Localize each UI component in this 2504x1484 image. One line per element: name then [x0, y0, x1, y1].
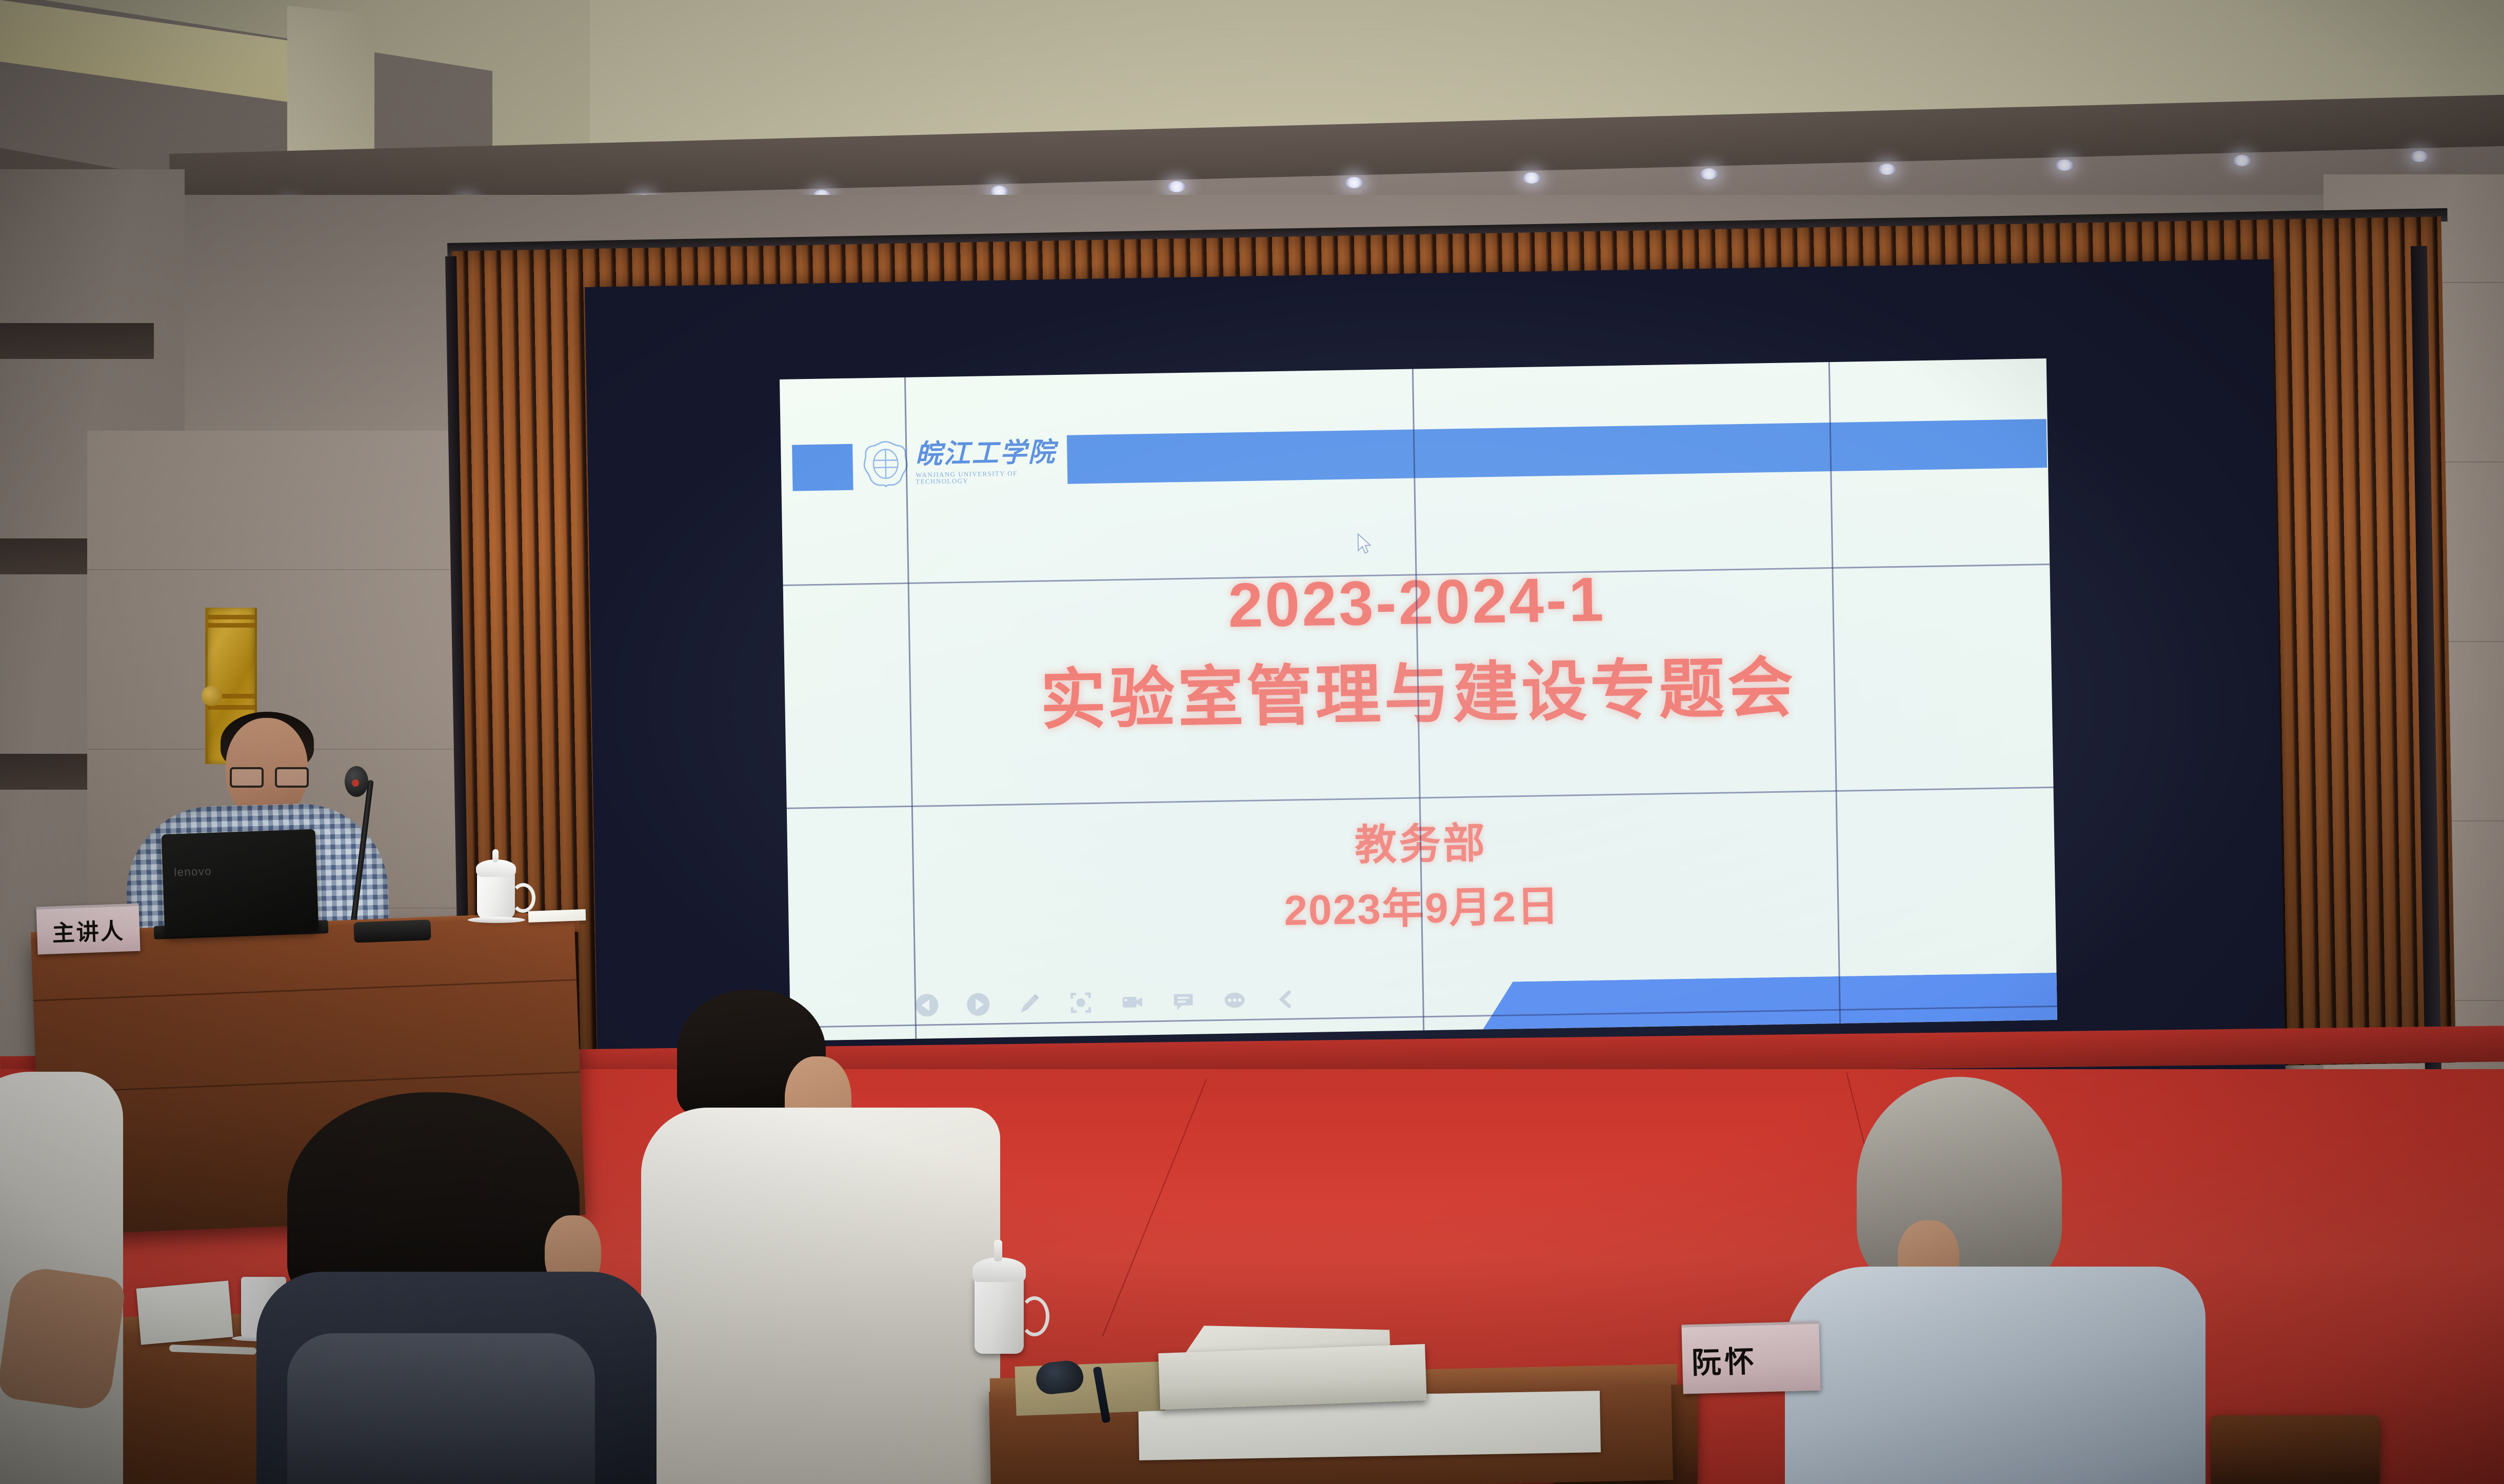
- laser-pointer-icon[interactable]: [1067, 989, 1095, 1017]
- attendee-right-body: [1785, 1267, 2205, 1484]
- attendee-front-collar: [287, 1333, 595, 1484]
- recessed-downlight: [2056, 159, 2073, 171]
- university-logo: 皖江工学院 WANJIANG UNIVERSITY OF TECHNOLOGY: [863, 432, 1069, 493]
- header-accent-right: [1067, 419, 2047, 484]
- video-camera-icon[interactable]: [1118, 988, 1146, 1016]
- presenter-laptop[interactable]: lenovo: [162, 829, 319, 937]
- ornament-knot: [202, 686, 222, 706]
- left-table-paper: [136, 1280, 233, 1345]
- chair-far-right: [2211, 1415, 2380, 1484]
- microphone-indicator-light: [352, 779, 359, 787]
- university-crest-icon: [863, 440, 909, 488]
- attendee-right-hair: [1857, 1077, 2062, 1292]
- recessed-downlight: [1878, 164, 1896, 175]
- header-accent-left: [792, 444, 853, 491]
- next-slide-icon[interactable]: [964, 990, 992, 1018]
- right-table-teacup: [975, 1277, 1024, 1354]
- toolbar-group-tools[interactable]: [1118, 985, 1300, 1016]
- right-table-teacup-knob: [994, 1240, 1002, 1261]
- comment-icon[interactable]: [1169, 987, 1198, 1015]
- presenter-teacup-handle: [511, 883, 535, 913]
- presenter-teacup-knob: [492, 849, 499, 863]
- recessed-downlight: [2411, 151, 2428, 162]
- recessed-downlight: [1345, 177, 1363, 188]
- right-table-teacup-handle: [1020, 1296, 1049, 1336]
- recessed-downlight: [1168, 181, 1185, 192]
- university-name-cn: 皖江工学院: [915, 439, 1068, 469]
- slide-footer-shape: [1482, 973, 2057, 1030]
- powerpoint-presenter-toolbar[interactable]: [913, 985, 1300, 1019]
- attendee-nameplate: 阮怀: [1681, 1321, 1820, 1394]
- mousepad: [1015, 1361, 1165, 1416]
- conference-room-scene: 皖江工学院 WANJIANG UNIVERSITY OF TECHNOLOGY …: [0, 0, 2504, 1484]
- attendee-center-body: [641, 1108, 1000, 1484]
- recessed-downlight: [1700, 168, 1718, 179]
- collapse-icon[interactable]: [1272, 985, 1300, 1013]
- microphone-base: [353, 919, 431, 942]
- university-name-en: WANJIANG UNIVERSITY OF TECHNOLOGY: [916, 469, 1068, 485]
- speaker-nameplate: 主讲人: [36, 904, 140, 955]
- presenter-glasses: [230, 767, 305, 785]
- toolbar-group-navigation[interactable]: [913, 989, 1095, 1019]
- previous-slide-icon[interactable]: [913, 991, 941, 1019]
- more-options-icon[interactable]: [1221, 986, 1249, 1014]
- laptop-brand-label: lenovo: [174, 865, 212, 879]
- right-table-documents-stack: [1158, 1344, 1427, 1410]
- mouse-cursor-icon: [1357, 533, 1373, 555]
- presenter-teacup-saucer: [468, 917, 525, 923]
- pen-icon[interactable]: [1016, 990, 1044, 1018]
- presenter-teacup: [477, 872, 515, 919]
- presenter-note-paper: [528, 909, 586, 923]
- presentation-slide[interactable]: 皖江工学院 WANJIANG UNIVERSITY OF TECHNOLOGY …: [780, 358, 2057, 1041]
- attendee-left-arm: [0, 1265, 127, 1412]
